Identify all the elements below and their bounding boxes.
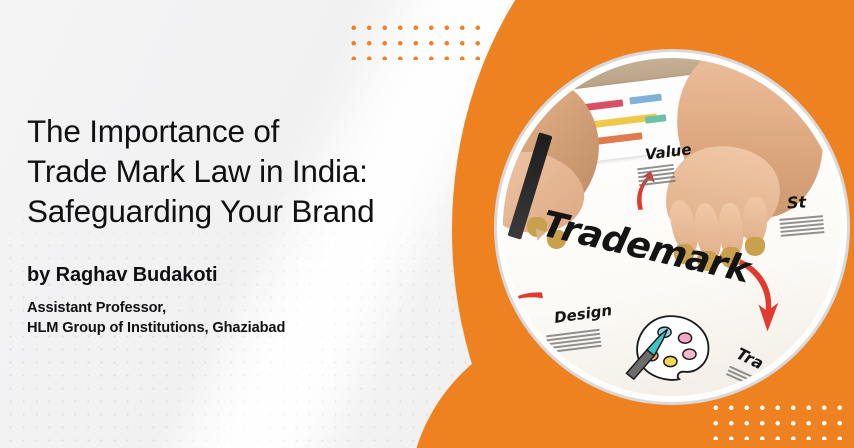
article-banner: Trademark Value Design St Tra The Import… <box>0 0 854 448</box>
text-block: The Importance of Trade Mark Law in Indi… <box>27 0 457 448</box>
headline-line-1: The Importance of <box>27 111 447 151</box>
mindmap-branch-strategy: St <box>786 193 806 213</box>
headline-line-2: Trade Mark Law in India: <box>27 151 447 191</box>
caption-lines <box>779 215 825 239</box>
headline-line-3: Safeguarding Your Brand <box>27 191 447 231</box>
white-dot-grid-bottom <box>706 398 846 440</box>
page-title: The Importance of Trade Mark Law in Indi… <box>27 111 447 231</box>
author-affiliation: Assistant Professor, HLM Group of Instit… <box>27 298 285 338</box>
affiliation-line-2: HLM Group of Institutions, Ghaziabad <box>27 318 285 338</box>
affiliation-line-1: Assistant Professor, <box>27 298 285 318</box>
trademark-photo: Trademark Value Design St Tra <box>503 58 841 396</box>
author-byline: by Raghav Budakoti <box>27 264 217 287</box>
paint-palette-icon <box>625 308 713 386</box>
